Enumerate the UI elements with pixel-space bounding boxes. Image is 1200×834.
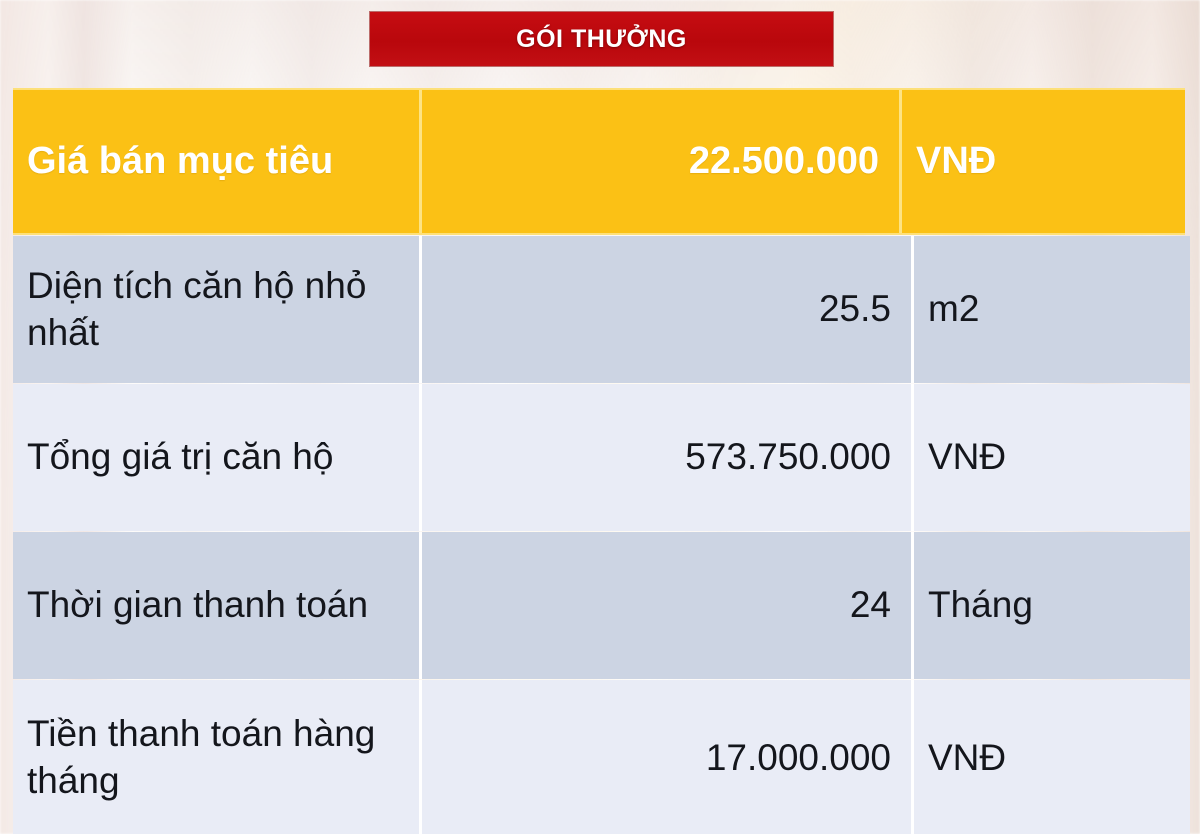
row-value-cell: 25.5: [422, 236, 914, 383]
row-unit-cell: Tháng: [914, 532, 1187, 679]
row-value: 17.000.000: [706, 735, 891, 782]
row-label: Giá bán mục tiêu: [27, 138, 333, 186]
row-label: Thời gian thanh toán: [27, 582, 368, 629]
row-value-cell: 17.000.000: [422, 680, 914, 834]
table-row: Tổng giá trị căn hộ 573.750.000 VNĐ: [13, 384, 1190, 531]
row-unit: Tháng: [928, 582, 1033, 629]
table-row: Diện tích căn hộ nhỏ nhất 25.5 m2: [13, 236, 1190, 383]
row-unit: m2: [928, 286, 979, 333]
row-label-cell: Tổng giá trị căn hộ: [13, 384, 422, 531]
row-unit-cell: m2: [914, 236, 1187, 383]
row-label-cell: Tiền thanh toán hàng tháng: [13, 680, 422, 834]
table-row: Thời gian thanh toán 24 Tháng: [13, 532, 1190, 679]
row-label-cell: Giá bán mục tiêu: [13, 90, 422, 233]
table-row: Giá bán mục tiêu 22.500.000 VNĐ: [13, 88, 1185, 235]
row-value: 25.5: [819, 286, 891, 333]
row-unit: VNĐ: [928, 434, 1006, 481]
spec-table: Giá bán mục tiêu 22.500.000 VNĐ Diện tíc…: [0, 88, 1200, 834]
row-unit-cell: VNĐ: [902, 90, 1182, 233]
row-value: 22.500.000: [689, 138, 879, 186]
row-label-cell: Thời gian thanh toán: [13, 532, 422, 679]
banner-title: GÓI THƯỞNG: [516, 25, 687, 54]
row-value-cell: 24: [422, 532, 914, 679]
row-value: 24: [850, 582, 891, 629]
title-banner: GÓI THƯỞNG: [370, 12, 833, 66]
row-unit-cell: VNĐ: [914, 680, 1187, 834]
row-label: Tiền thanh toán hàng tháng: [27, 711, 405, 804]
row-value: 573.750.000: [685, 434, 891, 481]
row-unit-cell: VNĐ: [914, 384, 1187, 531]
row-value-cell: 573.750.000: [422, 384, 914, 531]
table-row: Tiền thanh toán hàng tháng 17.000.000 VN…: [13, 680, 1190, 834]
row-value-cell: 22.500.000: [422, 90, 902, 233]
row-label: Diện tích căn hộ nhỏ nhất: [27, 263, 405, 356]
row-unit: VNĐ: [916, 138, 996, 186]
row-label: Tổng giá trị căn hộ: [27, 434, 333, 481]
row-label-cell: Diện tích căn hộ nhỏ nhất: [13, 236, 422, 383]
row-unit: VNĐ: [928, 735, 1006, 782]
